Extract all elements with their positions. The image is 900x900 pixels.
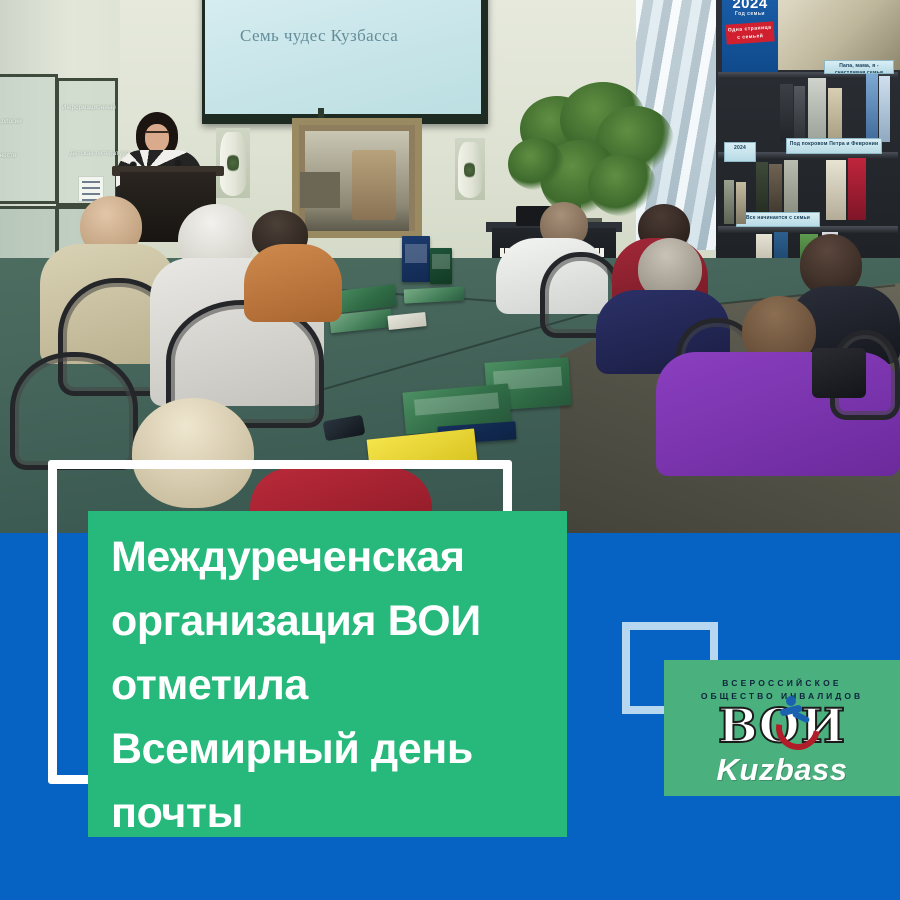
shelf-book (828, 88, 842, 142)
chair (10, 352, 138, 470)
speaker-face (145, 124, 169, 152)
decorative-vase (458, 142, 482, 198)
headline-line-1: Междуреченская (111, 525, 557, 589)
shelf-poster-year: 2024 Год семьи Одна страница с семьей (722, 0, 778, 72)
voi-logo: ВСЕРОССИЙСКОЕ ОБЩЕСТВО ИНВАЛИДОВ ВОИ Kuz… (664, 660, 900, 796)
shelf-book (794, 86, 805, 142)
headline-line-4: Всемирный день (111, 717, 557, 781)
plant-foliage (588, 154, 656, 216)
display-book-standing (402, 236, 430, 282)
shelf-band-label: Все начинается с семьи (736, 212, 820, 227)
display-book-standing (430, 248, 452, 284)
partition-label: Информационный (62, 104, 116, 112)
shelf-band-label: Под покровом Петра и Февронии (786, 138, 882, 154)
decorative-vase (220, 132, 246, 196)
headline-line-2: организация ВОИ (111, 589, 557, 653)
shelf-book (848, 158, 866, 220)
logo-region-label: Kuzbass (664, 752, 900, 788)
wheelchair-person-head-icon (786, 696, 796, 706)
projector-slide-title: Семь чудес Кузбасса (240, 26, 460, 46)
poster-year-label: 2024 (722, 0, 778, 11)
logo-supertext-line-1: ВСЕРОССИЙСКОЕ (664, 677, 900, 690)
page-title: Междуреченская организация ВОИ отметила … (111, 525, 557, 845)
handbag (812, 348, 866, 398)
shelf-band-label: 2024 (724, 142, 756, 162)
headline-line-3: отметила (111, 653, 557, 717)
poster-subtitle: Год семьи (722, 11, 778, 18)
shelf-book (736, 182, 746, 224)
event-photo: ...ологии ...ности Информационный Детска… (0, 0, 900, 533)
plant-foliage (508, 138, 564, 190)
shelf-book (780, 84, 793, 142)
band-text: Под покровом Петра и Февронии (790, 141, 879, 147)
shelf-book (724, 180, 734, 224)
shelf-plank (718, 226, 898, 233)
poster-badge: Одна страница с семьей (725, 21, 774, 44)
shelf-book (826, 160, 846, 220)
partition-label: Детская литература (70, 150, 129, 158)
shelf-band-label: Папа, мама, я - счастливая семья (824, 60, 894, 74)
shelf-book (879, 76, 890, 142)
speaker-glasses (146, 131, 169, 136)
glass-partition-panel (0, 74, 58, 204)
headline-panel: Междуреченская организация ВОИ отметила … (88, 511, 567, 837)
attendee-body (244, 244, 342, 322)
shelf-book (784, 160, 798, 220)
projection-screen-surface (205, 0, 481, 114)
headline-line-5: почты (111, 781, 557, 845)
far-room-furniture (300, 172, 340, 208)
band-text: 2024 (734, 145, 746, 151)
band-text: Все начинается с семьи (746, 215, 810, 221)
shelf-book (866, 74, 878, 142)
band-text: Папа, мама, я - счастливая семья (835, 63, 883, 74)
shelf-book (808, 78, 826, 142)
far-room-furniture (352, 150, 396, 220)
partition-label: ...ности (0, 152, 16, 160)
partition-label: ...ологии (0, 118, 22, 126)
poster-canvas: ...ологии ...ности Информационный Детска… (0, 0, 900, 900)
